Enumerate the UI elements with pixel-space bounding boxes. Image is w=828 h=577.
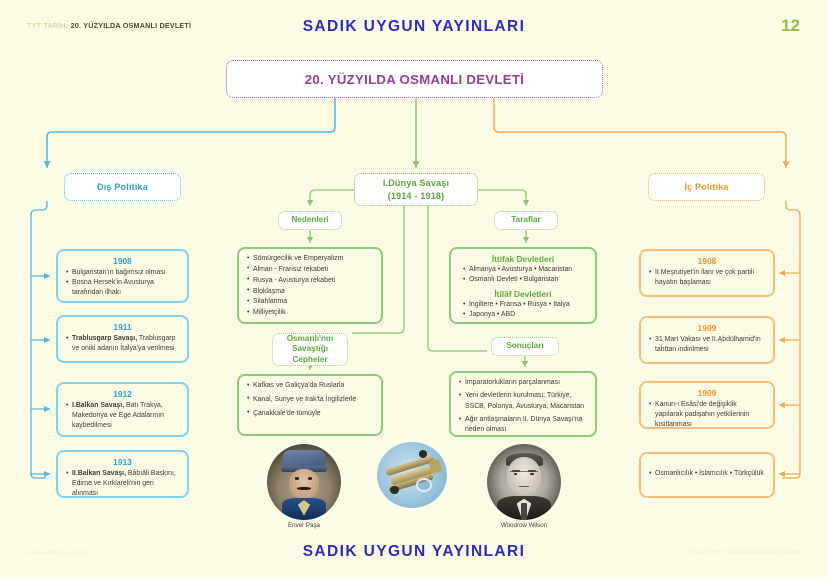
list-item: Sömürgecilik ve Emperyalizm <box>247 254 373 264</box>
root-node-20th-century-ottoman-state: 20. YÜZYILDA OSMANLI DEVLETİ <box>226 60 603 98</box>
sublabel-taraflar: Taraflar <box>494 211 558 230</box>
sublabel-nedenleri-text: Nedenleri <box>291 215 328 226</box>
card-bullet-list: II.Balkan Savaşı, Bâbıâli Baskını, Edirn… <box>66 469 179 498</box>
card-bullet-list: Bulgaristan'ın bağımsız olması Bosna Her… <box>66 268 179 298</box>
list-item: Bulgaristan'ın bağımsız olması <box>66 268 179 278</box>
card-ic-politika-ideologies: Osmanlıcılık • İslamcılık • Türkçülük <box>639 452 775 498</box>
card-ic-politika-1908: 1908 II.Meşrutiyet'in ilanı ve çok parti… <box>639 249 775 297</box>
card-dis-politika-1911: 1911 Trablusgarp Savaşı, Trablusgarp ve … <box>56 315 189 363</box>
card-bullet-list: Osmanlıcılık • İslamcılık • Türkçülük <box>649 469 765 479</box>
card-bullet-list: I.Balkan Savaşı, Batı Trakya, Makedonya … <box>66 401 179 430</box>
list-item: Trablusgarp Savaşı, Trablusgarp ve oniki… <box>66 334 179 354</box>
card-ww1-nedenleri: Sömürgecilik ve Emperyalizm Alman - Fran… <box>237 247 383 324</box>
list-item: Silahlanma <box>247 297 373 307</box>
sublabel-nedenleri: Nedenleri <box>278 211 342 230</box>
enver-pasa-photo: Enver Paşa <box>259 444 349 529</box>
list-item: 31 Mart Vakası ve II.Abdülhamid'in tahtt… <box>649 335 765 355</box>
sublabel-cepheler-line3: Cepheler <box>292 355 327 366</box>
list-item: İngiltere • Fransa • Rusya • İtalya <box>464 300 587 310</box>
list-item: Almanya • Avusturya • Macaristan <box>464 265 587 275</box>
list-item: İmparatorlukların parçalanması <box>459 378 587 388</box>
branch-node-ww1: I.Dünya Savaşı (1914 - 1918) <box>354 173 478 206</box>
footer-website-url: www.sadikuygun.com.tr <box>28 550 89 556</box>
card-ic-politika-1909-a: 1909 31 Mart Vakası ve II.Abdülhamid'in … <box>639 316 775 364</box>
card-ww1-cepheler: Kafkas ve Galiçya'da Ruslarla Kanal, Sur… <box>237 374 383 436</box>
list-item: Osmanlıcılık • İslamcılık • Türkçülük <box>649 469 765 479</box>
photo-caption: Woodrow Wilson <box>479 522 569 529</box>
card-dis-politika-1908: 1908 Bulgaristan'ın bağımsız olması Bosn… <box>56 249 189 303</box>
card-ww1-taraflar: İttifak Devletleri Almanya • Avusturya •… <box>449 247 597 324</box>
sublabel-sonuclari: Sonuçları <box>491 337 559 356</box>
card-bullet-list: İmparatorlukların parçalanması Yeni devl… <box>459 378 587 436</box>
list-item: Yeni devletlerin kurulması: Türkiye, SSC… <box>459 391 587 412</box>
enver-pasa-portrait-image <box>267 444 341 520</box>
wwi-biplane-image <box>377 442 447 508</box>
group-title-ittifak: İttifak Devletleri <box>459 254 587 264</box>
list-item: Japonya • ABD <box>464 310 587 320</box>
list-item: Milliyetçilik <box>247 308 373 318</box>
card-year: 1908 <box>66 256 179 266</box>
list-item: II.Meşrutiyet'in ilanı ve çok partili ha… <box>649 268 765 288</box>
itilaf-member-list: İngiltere • Fransa • Rusya • İtalya Japo… <box>459 300 587 321</box>
list-item: Osmanlı Devleti • Bulgaristan <box>464 275 587 285</box>
list-item: Kanal, Suriye ve Irak'ta İngilizlerle <box>247 395 373 405</box>
list-item: Ağır antlaşmaların II. Dünya Savaşı'na n… <box>459 415 587 436</box>
concept-map-page: TYT TARİH: 20. YÜZYILDA OSMANLI DEVLETİ … <box>0 0 828 577</box>
card-year: 1913 <box>66 457 179 467</box>
card-bullet-list: Trablusgarp Savaşı, Trablusgarp ve oniki… <box>66 334 179 354</box>
card-bullet-list: 31 Mart Vakası ve II.Abdülhamid'in tahtt… <box>649 335 765 355</box>
list-item: Alman - Fransız rekabeti <box>247 265 373 275</box>
sublabel-cepheler-line2: Savaştığı <box>292 344 328 355</box>
woodrow-wilson-photo: Woodrow Wilson <box>479 444 569 529</box>
sublabel-taraflar-text: Taraflar <box>511 215 540 226</box>
card-year: 1909 <box>649 388 765 398</box>
card-year: 1912 <box>66 389 179 399</box>
branch-label-ww1-years: (1914 - 1918) <box>388 190 445 202</box>
branch-label-ic-politika: İç Politika <box>684 182 728 192</box>
card-bullet-list: Kanun-ı Esâsi'de değişiklik yapılarak pa… <box>649 400 765 429</box>
sublabel-cepheler: Osmanlı'nın Savaştığı Cepheler <box>272 333 348 366</box>
list-item: Çanakkale'de tümüyle <box>247 409 373 419</box>
sublabel-sonuclari-text: Sonuçları <box>506 341 543 352</box>
branch-node-ic-politika: İç Politika <box>648 173 765 201</box>
card-year: 1911 <box>66 322 179 332</box>
list-item: I.Balkan Savaşı, Batı Trakya, Makedonya … <box>66 401 179 430</box>
woodrow-wilson-portrait-image <box>487 444 561 520</box>
photo-caption: Enver Paşa <box>259 522 349 529</box>
card-dis-politika-1913: 1913 II.Balkan Savaşı, Bâbıâli Baskını, … <box>56 450 189 498</box>
list-item: Rusya - Avusturya rekabeti <box>247 276 373 286</box>
card-year: 1908 <box>649 256 765 266</box>
card-dis-politika-1912: 1912 I.Balkan Savaşı, Batı Trakya, Maked… <box>56 382 189 437</box>
card-ww1-sonuclari: İmparatorlukların parçalanması Yeni devl… <box>449 371 597 437</box>
branch-label-ww1-title: I.Dünya Savaşı <box>383 177 449 189</box>
list-item: Bloklaşma <box>247 287 373 297</box>
card-bullet-list: II.Meşrutiyet'in ilanı ve çok partili ha… <box>649 268 765 288</box>
card-ic-politika-1909-b: 1909 Kanun-ı Esâsi'de değişiklik yapılar… <box>639 381 775 429</box>
group-title-itilaf: İtilâf Devletleri <box>459 289 587 299</box>
list-item: Bosna Hersek'in Avusturya tarafından ilh… <box>66 278 179 298</box>
sublabel-cepheler-line1: Osmanlı'nın <box>287 334 334 345</box>
card-bullet-list: Sömürgecilik ve Emperyalizm Alman - Fran… <box>247 254 373 319</box>
card-bullet-list: Kafkas ve Galiçya'da Ruslarla Kanal, Sur… <box>247 381 373 419</box>
footer-note: UYGUN TYT TARİH KAVRAM HARİTALARI <box>689 550 800 556</box>
list-item: Kafkas ve Galiçya'da Ruslarla <box>247 381 373 391</box>
card-year: 1909 <box>649 323 765 333</box>
list-item: II.Balkan Savaşı, Bâbıâli Baskını, Edirn… <box>66 469 179 498</box>
branch-label-dis-politika: Dış Politika <box>97 182 148 192</box>
branch-node-dis-politika: Dış Politika <box>64 173 181 201</box>
root-node-label: 20. YÜZYILDA OSMANLI DEVLETİ <box>305 72 524 87</box>
list-item: Kanun-ı Esâsi'de değişiklik yapılarak pa… <box>649 400 765 429</box>
ittifak-member-list: Almanya • Avusturya • Macaristan Osmanlı… <box>459 265 587 286</box>
wwi-biplane-photo <box>372 442 452 510</box>
